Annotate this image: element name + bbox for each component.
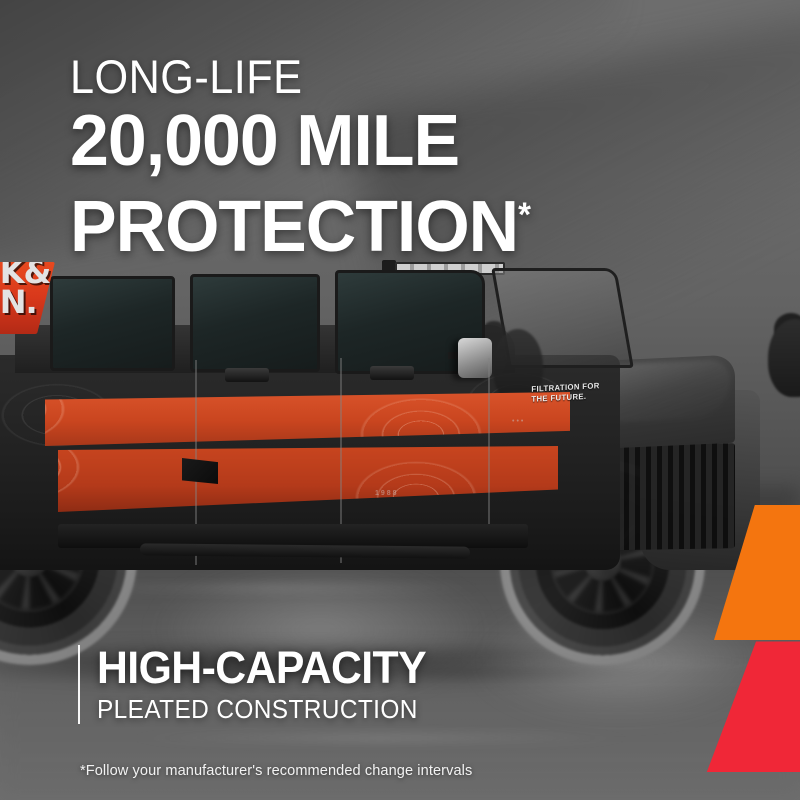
side-mirror	[458, 338, 492, 378]
advertisement-canvas: FILTRATION FOR THE FUTURE. 1988 ••• K& N…	[0, 0, 800, 800]
kn-logo: K& N.	[0, 262, 55, 334]
subhead-secondary: PLEATED CONSTRUCTION	[97, 694, 423, 724]
door-seam	[488, 358, 490, 548]
body-dot-decal: •••	[512, 418, 525, 425]
rear-window	[50, 276, 175, 371]
headline-eyebrow: LONG-LIFE	[70, 52, 506, 102]
vehicle-illustration: FILTRATION FOR THE FUTURE. 1988 ••• K& N…	[0, 240, 770, 660]
footnote-disclaimer: *Follow your manufacturer's recommended …	[80, 762, 472, 779]
subhead-divider-rule	[78, 645, 80, 724]
motion-streak	[120, 735, 640, 741]
headline-line-2-text: PROTECTION	[70, 187, 518, 267]
subhead-primary: HIGH-CAPACITY	[97, 645, 426, 691]
door-handle	[225, 368, 269, 382]
subhead-block: HIGH-CAPACITY PLEATED CONSTRUCTION	[78, 645, 443, 724]
door-handle	[370, 366, 414, 380]
headline-line-2: PROTECTION*	[70, 180, 530, 262]
hood-decal-text: FILTRATION FOR THE FUTURE.	[531, 381, 599, 404]
headline-line-1: 20,000 MILE	[70, 106, 530, 176]
kn-logo-text: K& N.	[0, 262, 51, 317]
subhead-text-group: HIGH-CAPACITY PLEATED CONSTRUCTION	[97, 645, 443, 724]
door-vent	[182, 458, 218, 484]
headline-block: LONG-LIFE 20,000 MILE PROTECTION*	[70, 52, 544, 262]
year-badge-decal: 1988	[375, 490, 399, 497]
middle-window	[190, 274, 320, 372]
headline-asterisk: *	[518, 196, 530, 234]
